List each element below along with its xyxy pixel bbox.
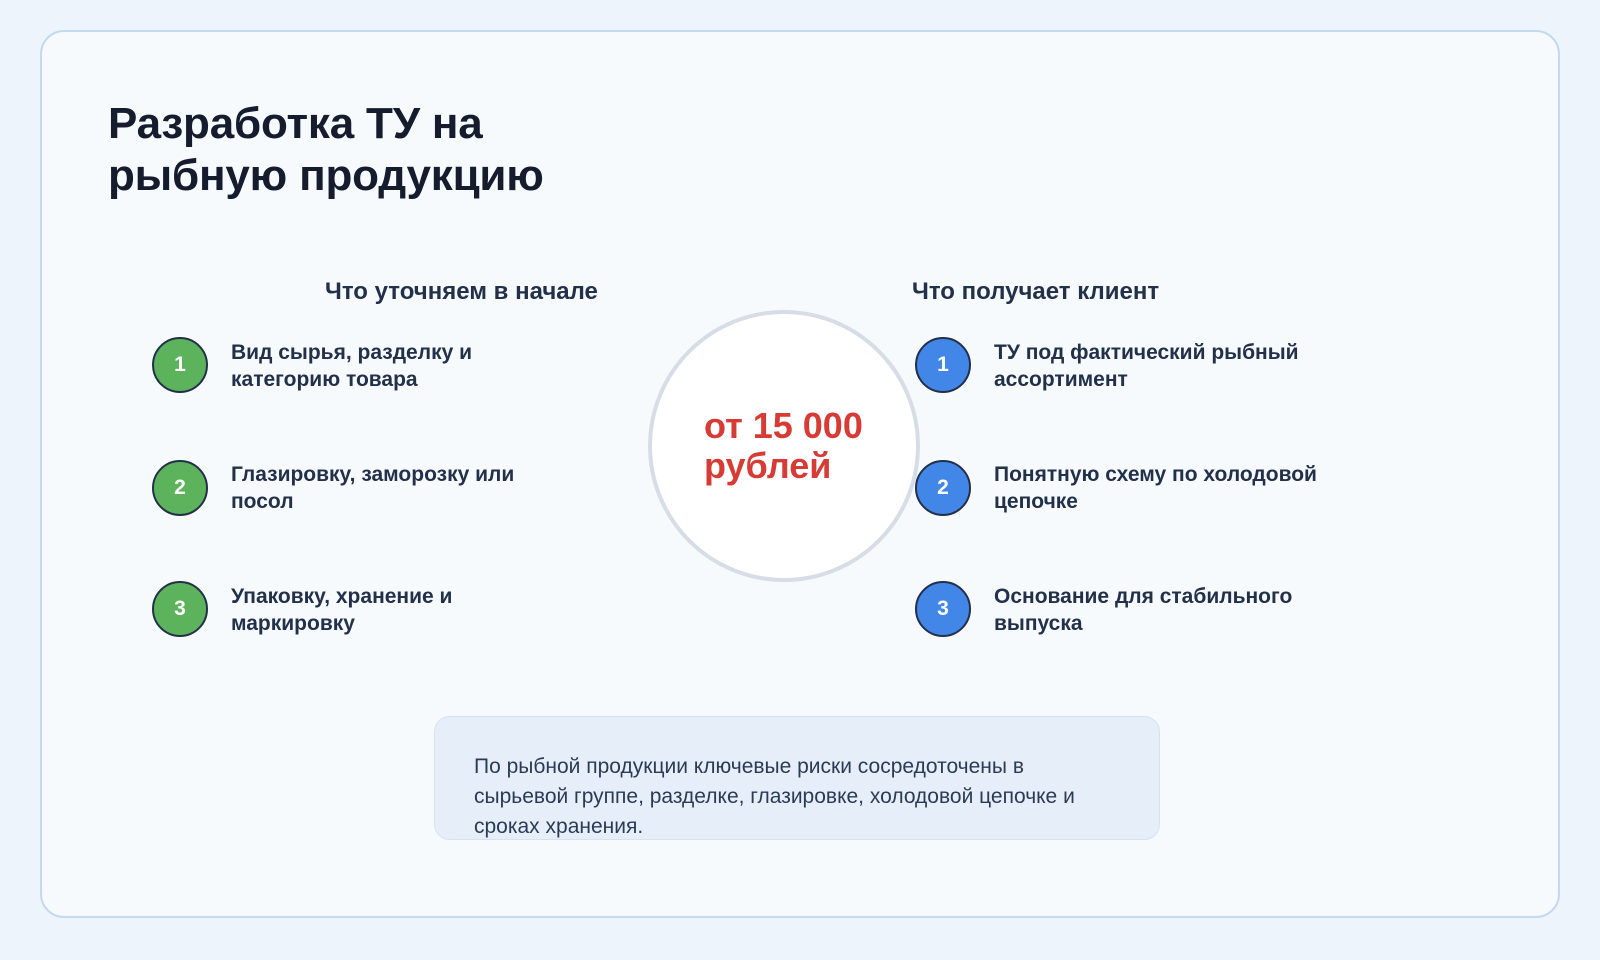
page-title: Разработка ТУ на рыбную продукцию [108,98,808,202]
list-item-label: Понятную схему по холодовой цепочке [994,462,1324,516]
price-badge-circle: от 15 000 рублей [648,310,920,582]
list-item-label: Упаковку, хранение и маркировку [231,584,561,638]
price-badge-label: от 15 000 рублей [704,406,864,487]
list-item-label: Основание для стабильного выпуска [994,584,1354,638]
step-number-badge: 1 [152,337,208,393]
left-column-heading: Что уточняем в начале [325,278,598,306]
step-number-badge: 1 [915,337,971,393]
infographic-stage: Разработка ТУ на рыбную продукцию Что ут… [0,0,1600,960]
step-number-badge: 2 [915,460,971,516]
step-number-badge: 3 [152,581,208,637]
list-item-label: ТУ под фактический рыбный ассортимент [994,340,1374,394]
note-text: По рыбной продукции ключевые риски сосре… [474,752,1114,843]
right-column-heading: Что получает клиент [912,278,1159,306]
step-number-badge: 3 [915,581,971,637]
step-number-badge: 2 [152,460,208,516]
list-item-label: Вид сырья, разделку и категорию товара [231,340,561,394]
list-item-label: Глазировку, заморозку или посол [231,462,576,516]
